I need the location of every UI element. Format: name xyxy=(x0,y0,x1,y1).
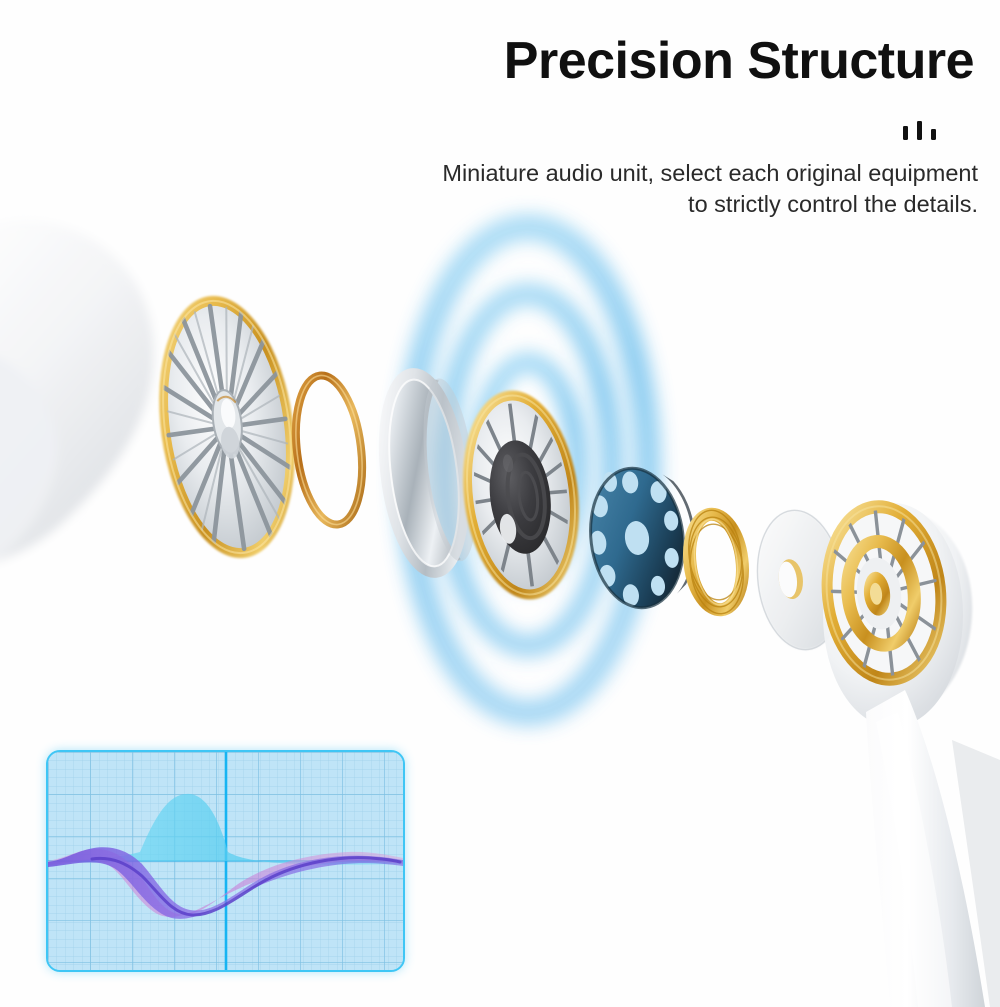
audio-waveform-graph xyxy=(46,750,405,972)
page-subtitle: Miniature audio unit, select each origin… xyxy=(308,158,978,221)
product-marketing-banner: Precision Structure Miniature audio unit… xyxy=(0,0,1000,1007)
equalizer-bars-icon xyxy=(900,118,942,142)
left-earbud-housing xyxy=(0,220,154,572)
voice-coil-component xyxy=(684,507,748,617)
waveform-svg xyxy=(48,752,403,970)
copper-ring-component xyxy=(288,372,370,529)
mesh-grille-component xyxy=(143,287,310,567)
subtitle-line-1: Miniature audio unit, select each origin… xyxy=(308,158,978,189)
right-earbud-assembly xyxy=(813,494,1000,1007)
subtitle-line-2: to strictly control the details. xyxy=(308,189,978,220)
page-title: Precision Structure xyxy=(504,34,974,89)
